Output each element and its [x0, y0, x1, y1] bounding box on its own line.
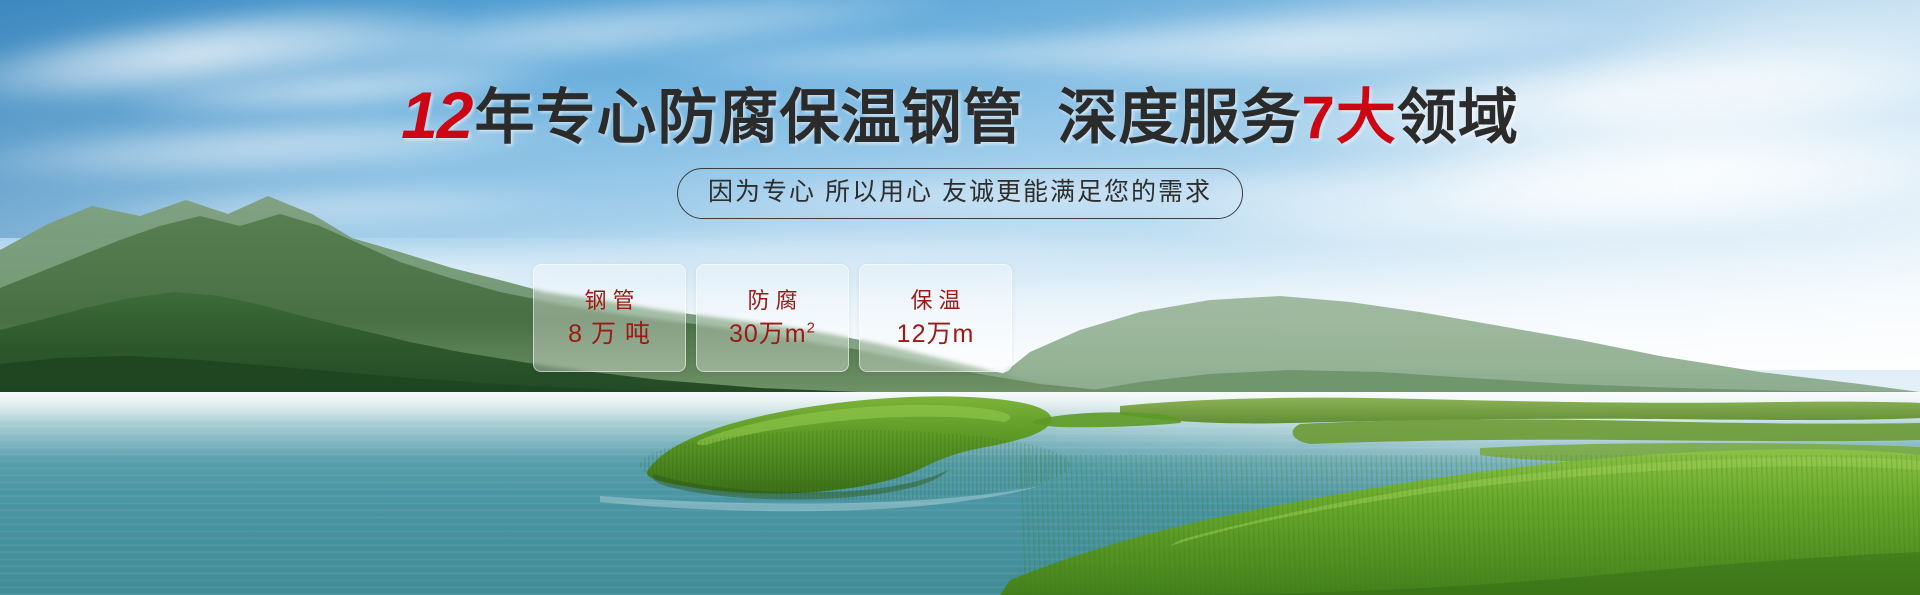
stat-card-label: 保温 — [904, 290, 966, 312]
headline-segment-two: 深度服务 — [1058, 84, 1302, 151]
banner-subtitle-text: 因为专心 所以用心 友诚更能满足您的需求 — [708, 178, 1212, 206]
promo-banner: 12年专心防腐保温钢管深度服务7大领域 因为专心 所以用心 友诚更能满足您的需求… — [0, 0, 1920, 595]
headline-segment-three: 领域 — [1397, 84, 1519, 151]
stat-card-unit-exponent: 2 — [807, 319, 816, 336]
headline-years-number: 12 — [401, 78, 474, 152]
headline-segment-one: 年专心防腐保温钢管 — [475, 84, 1024, 151]
banner-content: 12年专心防腐保温钢管深度服务7大领域 因为专心 所以用心 友诚更能满足您的需求… — [0, 0, 1920, 595]
banner-subtitle-pill: 因为专心 所以用心 友诚更能满足您的需求 — [677, 168, 1243, 219]
headline-red-highlight: 7大 — [1302, 84, 1397, 151]
stat-card-steel-pipe[interactable]: 钢管 8 万 吨 — [533, 264, 686, 372]
stat-card-value: 12万m — [897, 322, 975, 347]
stat-card-label: 钢管 — [578, 290, 640, 312]
stat-card-group: 钢管 8 万 吨 防腐 30万m2 保温 12万m — [533, 264, 1012, 372]
banner-headline: 12年专心防腐保温钢管深度服务7大领域 — [0, 82, 1920, 148]
stat-card-value: 30万m2 — [729, 322, 816, 347]
stat-card-anticorrosion[interactable]: 防腐 30万m2 — [696, 264, 849, 372]
stat-card-insulation[interactable]: 保温 12万m — [859, 264, 1012, 372]
stat-card-label: 防腐 — [741, 290, 803, 312]
stat-card-value: 8 万 吨 — [568, 322, 651, 347]
